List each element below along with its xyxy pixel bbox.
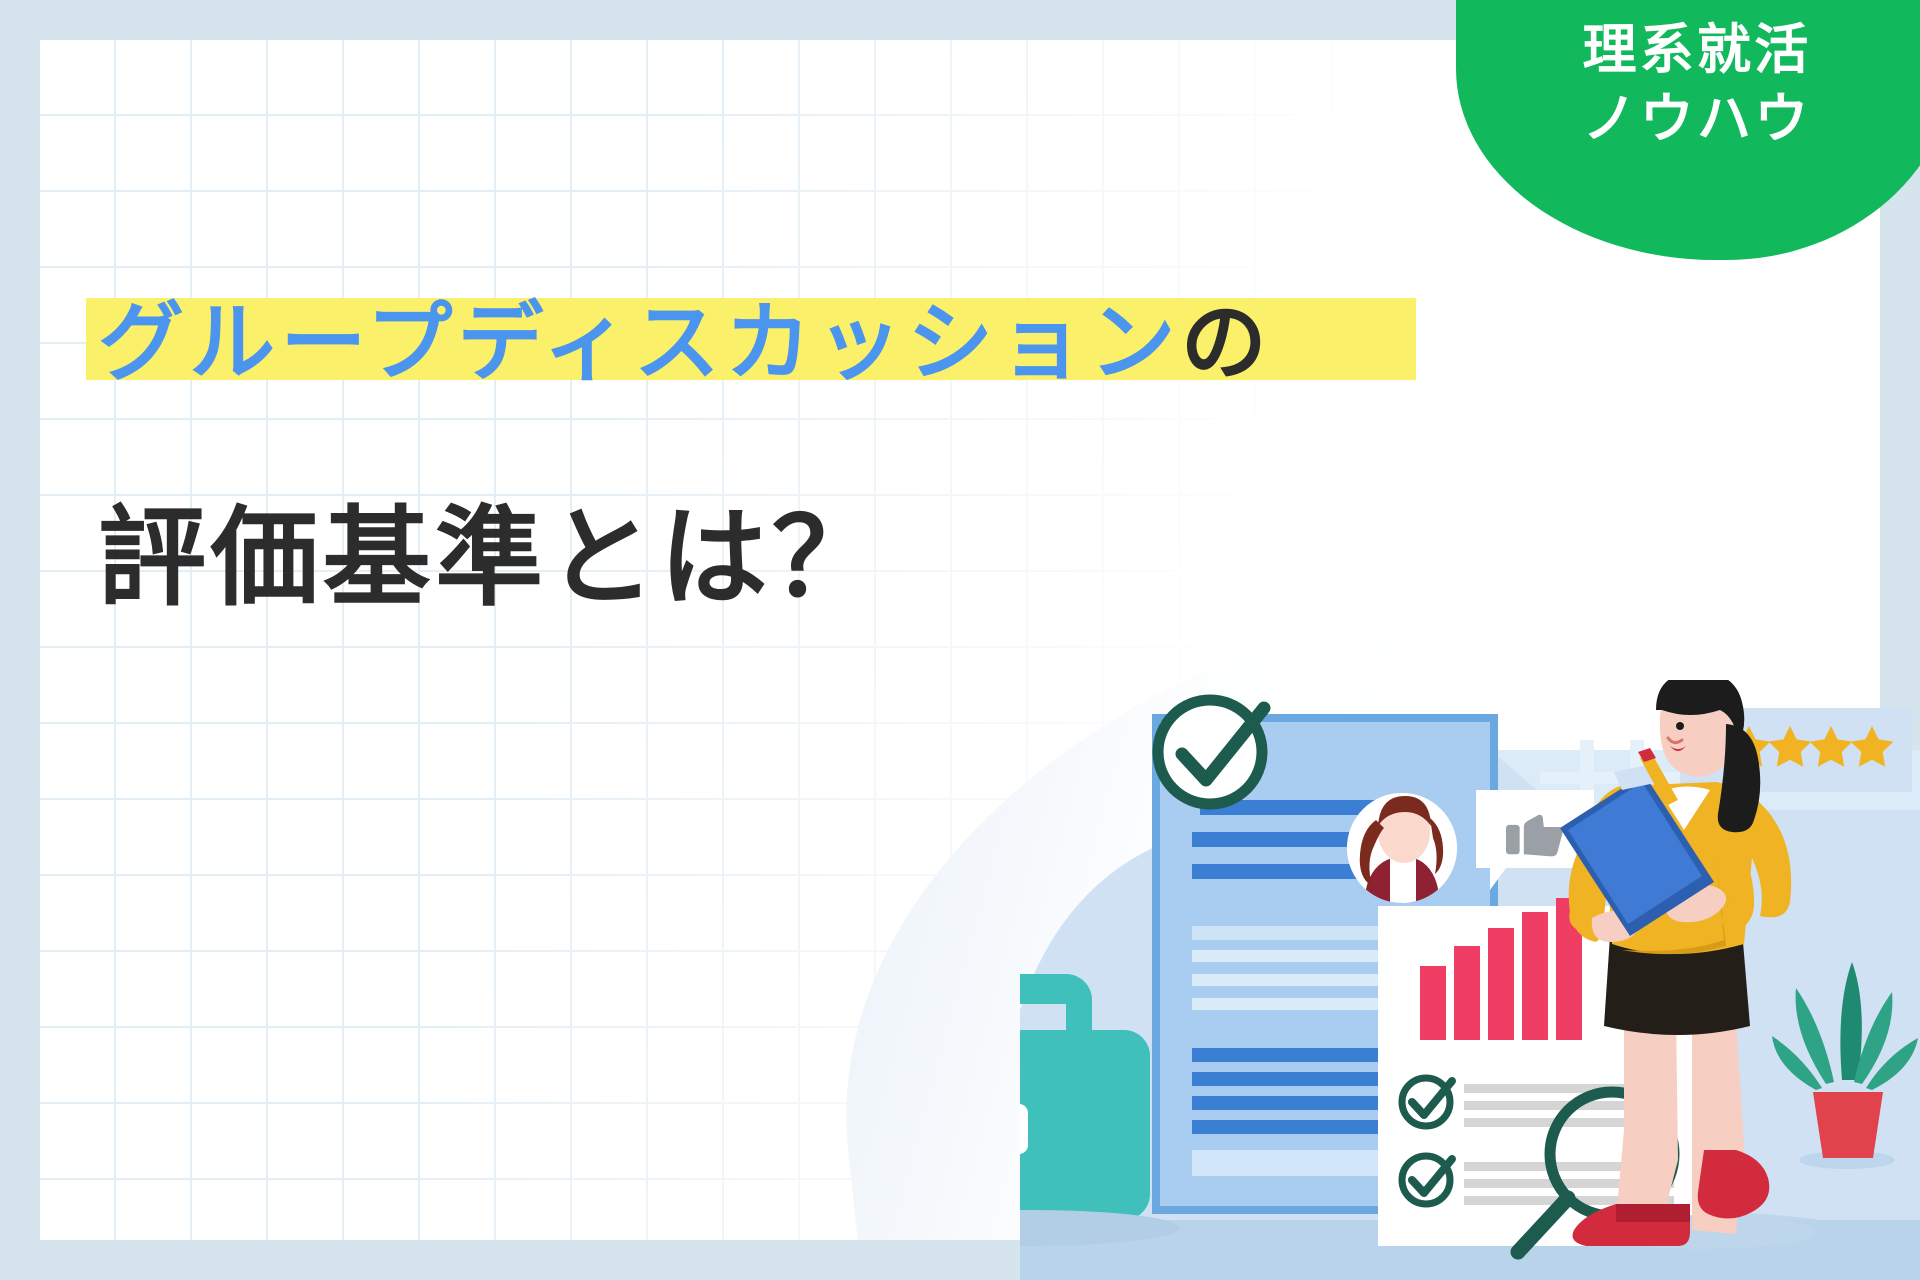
check-circle-icon <box>1158 700 1264 804</box>
thumbnail-canvas: 理系就活 ノウハウ グループディスカッションの 評価基準とは？ <box>0 0 1920 1280</box>
page-title: グループディスカッションの 評価基準とは？ <box>98 300 1418 612</box>
category-badge-line-2: ノウハウ <box>1456 85 1920 154</box>
title-highlighted-text: グループディスカッション <box>98 295 1181 391</box>
category-badge-text: 理系就活 ノウハウ <box>1456 16 1920 154</box>
title-line-1: グループディスカッションの <box>98 300 1418 386</box>
recruitment-evaluation-illustration <box>1020 680 1920 1280</box>
title-suffix-text: の <box>1181 295 1270 391</box>
title-line-2: 評価基準とは？ <box>98 504 1418 612</box>
category-badge-line-1: 理系就活 <box>1456 16 1920 85</box>
